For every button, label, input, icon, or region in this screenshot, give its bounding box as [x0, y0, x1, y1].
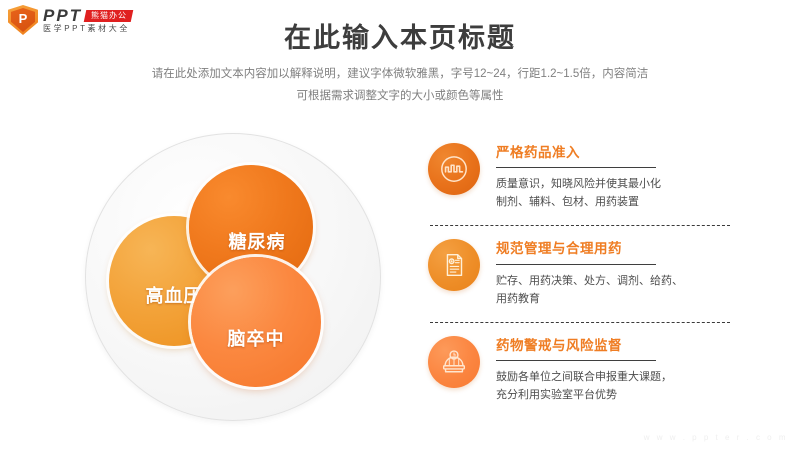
- venn-diagram: 糖尿病 高血压 脑卒中: [85, 133, 381, 421]
- desc-line-1: 鼓励各单位之间联合申报重大课题，: [496, 368, 773, 386]
- page-subtitle: 请在此处添加文本内容加以解释说明，建议字体微软雅黑，字号12~24，行距1.2~…: [100, 64, 700, 108]
- list-item-description: 贮存、用药决策、处方、调剂、给药、 用药教育: [496, 272, 773, 308]
- heading-rule: [496, 264, 656, 265]
- section-divider: [430, 322, 730, 323]
- prescription-document-icon: [428, 239, 480, 291]
- desc-line-2: 制剂、辅料、包材、用药装置: [496, 193, 773, 211]
- list-item-heading: 严格药品准入: [496, 145, 773, 161]
- desc-line-2: 充分利用实验室平台优势: [496, 386, 773, 404]
- safety-helmet-clock-icon: [428, 336, 480, 388]
- heading-rule: [496, 167, 656, 168]
- bubble-stroke[interactable]: 脑卒中: [191, 257, 321, 387]
- pulse-waveform-icon: [428, 143, 480, 195]
- feature-list: 严格药品准入 质量意识，知晓风险并使其最小化 制剂、辅料、包材、用药装置 规范管…: [428, 143, 773, 404]
- list-item[interactable]: 严格药品准入 质量意识，知晓风险并使其最小化 制剂、辅料、包材、用药装置: [428, 143, 773, 211]
- bubble-diabetes-label: 糖尿病: [229, 228, 286, 254]
- list-item[interactable]: 药物警戒与风险监督 鼓励各单位之间联合申报重大课题， 充分利用实验室平台优势: [428, 336, 773, 404]
- bubble-stroke-label: 脑卒中: [228, 325, 285, 351]
- subtitle-line-2: 可根据需求调整文字的大小或颜色等属性: [100, 86, 700, 108]
- list-item-description: 鼓励各单位之间联合申报重大课题， 充分利用实验室平台优势: [496, 368, 773, 404]
- heading-rule: [496, 360, 656, 361]
- list-item-heading: 规范管理与合理用药: [496, 241, 773, 257]
- watermark: w w w . p p t e r . c o m: [644, 433, 788, 442]
- section-divider: [430, 225, 730, 226]
- page-title: 在此输入本页标题: [0, 16, 800, 55]
- list-item-description: 质量意识，知晓风险并使其最小化 制剂、辅料、包材、用药装置: [496, 175, 773, 211]
- desc-line-1: 质量意识，知晓风险并使其最小化: [496, 175, 773, 193]
- desc-line-2: 用药教育: [496, 290, 773, 308]
- list-item-heading: 药物警戒与风险监督: [496, 338, 773, 354]
- subtitle-line-1: 请在此处添加文本内容加以解释说明，建议字体微软雅黑，字号12~24，行距1.2~…: [100, 64, 700, 86]
- desc-line-1: 贮存、用药决策、处方、调剂、给药、: [496, 272, 773, 290]
- list-item[interactable]: 规范管理与合理用药 贮存、用药决策、处方、调剂、给药、 用药教育: [428, 239, 773, 307]
